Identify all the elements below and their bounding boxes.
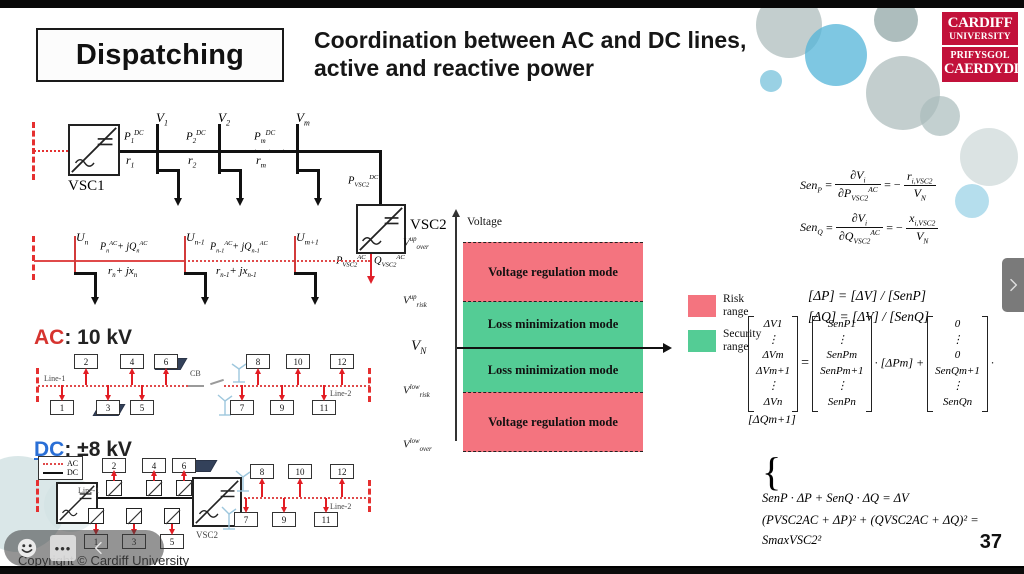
vsc2-label: VSC2 bbox=[410, 217, 447, 234]
dc-feeder-ac-bus-right bbox=[244, 497, 370, 499]
dc-arrow-top-6 bbox=[341, 482, 343, 497]
ac-node-bottom-4[interactable]: 7 bbox=[230, 400, 254, 415]
dc-feeder-vsc2-label: VSC2 bbox=[196, 530, 218, 540]
ac-node-top-3[interactable]: 6 bbox=[154, 354, 178, 369]
chart-band-loss-min-lower: Loss minimization mode bbox=[463, 347, 643, 392]
ac-impedance-label-2: rn-1+ jxn-1 bbox=[216, 265, 257, 279]
matrix-equation: ΔV1 ⋮ ΔVm ΔVm+1 ⋮ ΔVn = SenP1 ⋮ SenPm Se… bbox=[748, 316, 1024, 427]
sens-q-res-den: VN bbox=[906, 229, 938, 245]
dc-arrow-top-4 bbox=[261, 482, 263, 497]
sens-p-equals2: = − bbox=[884, 178, 901, 192]
matrix-senp-row-1: SenP1 bbox=[820, 317, 863, 333]
ac-tap-n-arrow bbox=[91, 297, 99, 305]
chart-band-label-2: Loss minimization mode bbox=[488, 317, 619, 331]
dc-bus-voltage-label-3: Vm bbox=[296, 110, 310, 128]
decor-circle-3 bbox=[874, 8, 918, 42]
ac-arrowhead-bottom-2 bbox=[105, 395, 111, 401]
chart-tick-v-n: VN bbox=[411, 338, 426, 357]
decor-circle-6 bbox=[920, 96, 960, 136]
dc-converter-top-2 bbox=[146, 480, 162, 496]
chart-vn-pointer-line bbox=[457, 347, 665, 349]
chart-band-label-1: Voltage regulation mode bbox=[488, 265, 618, 279]
ac-arrowhead-top-4 bbox=[255, 368, 261, 374]
matrix-sen-q: 0 ⋮ 0 SenQm+1 ⋮ SenQn bbox=[927, 316, 988, 412]
matrix-senp-row-5: ⋮ bbox=[820, 379, 863, 395]
ac-tap-m1-v bbox=[314, 272, 317, 298]
dc-tap-1-v bbox=[177, 169, 180, 199]
chart-band-label-3: Loss minimization mode bbox=[488, 363, 619, 377]
dc-feeder-bus bbox=[98, 497, 192, 499]
dc-arrowhead-top-1 bbox=[111, 470, 117, 476]
dc-feeder-line1-label: Line-1 bbox=[78, 486, 99, 495]
slide-title: Coordination between AC and DC lines, ac… bbox=[314, 26, 814, 82]
sens-q-lhs: SenQ bbox=[800, 220, 823, 234]
decor-circle-8 bbox=[955, 184, 989, 218]
delta-p-equation: [ΔP] = [ΔV] / [SenP] bbox=[808, 286, 929, 307]
sens-q-res-num: xi,VSC2 bbox=[906, 211, 938, 228]
ac-feeder-line1-label: Line-1 bbox=[44, 374, 65, 383]
slide-canvas: Dispatching Coordination between AC and … bbox=[0, 8, 1024, 566]
dc-resistance-label-1: r1 bbox=[126, 153, 134, 169]
chart-voltage-axis bbox=[455, 216, 457, 441]
dc-main-bus bbox=[120, 150, 382, 153]
dc-arrowhead-top-5 bbox=[297, 478, 303, 484]
dc-arrowhead-bottom-4 bbox=[243, 507, 249, 513]
sens-q-derivative: ∂Vi ∂QVSC2AC bbox=[836, 211, 883, 246]
matrix-equals: = bbox=[801, 356, 809, 371]
ac-feeder-diagram: Line-1 Line-2 CB 2 4 bbox=[30, 356, 390, 424]
chevron-left-icon[interactable] bbox=[86, 535, 112, 561]
ac-feeder-segment-3 bbox=[294, 260, 370, 262]
dc-tap-2-arrow bbox=[236, 198, 244, 206]
ac-arrowhead-top-6 bbox=[339, 368, 345, 374]
legend-ac-label: AC bbox=[67, 459, 78, 468]
dc-converter-bottom-3 bbox=[164, 508, 180, 524]
logo-welsh-block: PRIFYSGOL CAERDYDD bbox=[942, 47, 1018, 82]
ac-feeder-line2-label: Line-2 bbox=[330, 389, 351, 398]
slide-title-line1: Coordination between AC and DC lines, bbox=[314, 26, 814, 54]
logo-line-caerdydd: CAERDYDD bbox=[944, 61, 1016, 78]
sens-p-lhs: SenP bbox=[800, 178, 822, 192]
system-equation-line1: SenP · ΔP + SenQ · ΔQ = ΔV bbox=[762, 487, 1024, 510]
dc-arrowhead-top-6 bbox=[339, 478, 345, 484]
ac-arrowhead-bottom-6 bbox=[321, 395, 327, 401]
logo-line-university: UNIVERSITY bbox=[944, 32, 1016, 42]
dc-arrowhead-bottom-6 bbox=[323, 507, 329, 513]
vsc1-glyph bbox=[70, 126, 118, 174]
sens-p-derivative: ∂Vi ∂PVSC2AC bbox=[835, 168, 881, 203]
dc-converter-top-3-glyph bbox=[177, 481, 193, 497]
sens-q-equals: = bbox=[826, 220, 836, 234]
ac-feeder-segment-1 bbox=[34, 260, 184, 262]
chart-tick-v-up-risk: Vuprisk bbox=[403, 294, 427, 309]
dc-node-top-4[interactable]: 8 bbox=[250, 464, 274, 479]
sens-q-result: xi,VSC2 VN bbox=[906, 211, 938, 245]
logo-english-block: CARDIFF UNIVERSITY bbox=[942, 12, 1018, 45]
ac-arrowhead-bottom-1 bbox=[59, 395, 65, 401]
ac-arrowhead-top-1 bbox=[83, 368, 89, 374]
dc-arrowhead-top-4 bbox=[259, 478, 265, 484]
chart-axis-arrowhead bbox=[452, 209, 460, 217]
ellipsis-icon[interactable]: ••• bbox=[50, 535, 76, 561]
matrix-sen-p: SenP1 ⋮ SenPm SenPm+1 ⋮ SenPn bbox=[812, 316, 871, 412]
dc-node-bottom-4[interactable]: 7 bbox=[234, 512, 258, 527]
ac-feeder-cb-label: CB bbox=[190, 369, 201, 378]
voltage-mode-chart: Voltage Voltage regulation mode Loss min… bbox=[455, 216, 705, 441]
chevron-right-icon[interactable] bbox=[1002, 258, 1024, 312]
ac-arrowhead-top-2 bbox=[129, 368, 135, 374]
chart-legend-item-risk: Risk range bbox=[688, 293, 766, 319]
security-range-line2: range bbox=[723, 341, 749, 353]
ac-value: : 10 kV bbox=[64, 326, 132, 349]
ac-node-top-5[interactable]: 10 bbox=[286, 354, 310, 369]
dc-converter-bottom-2-glyph bbox=[127, 509, 143, 525]
ac-tap-m1-h bbox=[294, 272, 316, 275]
top-letterbox bbox=[0, 0, 1024, 8]
ac-feeder-cb-gap-b bbox=[210, 379, 224, 385]
dc-feeder-left-source bbox=[36, 480, 39, 512]
dc-bus-stub-2 bbox=[218, 124, 221, 174]
sens-p-den: ∂PVSC2AC bbox=[835, 185, 881, 202]
dc-node-bottom-6[interactable]: 11 bbox=[314, 512, 338, 527]
ac-flow-label-2: Pn-1AC+ jQn-1AC bbox=[210, 240, 268, 254]
risk-range-swatch bbox=[688, 295, 716, 317]
dc-arrowhead-top-3 bbox=[181, 470, 187, 476]
sens-q-num: ∂Vi bbox=[836, 211, 883, 228]
ac-tap-m1-arrow bbox=[311, 297, 319, 305]
chart-band-label-4: Voltage regulation mode bbox=[488, 415, 618, 429]
ac-tap-n-h bbox=[74, 272, 96, 275]
decor-circle-2 bbox=[805, 24, 867, 86]
dc-feeder-legend: AC DC bbox=[38, 456, 83, 480]
ac-arrowhead-bottom-4 bbox=[239, 395, 245, 401]
dc-feeder-line2-label: Line-2 bbox=[330, 502, 351, 511]
dc-source-link bbox=[34, 150, 68, 152]
sens-q-equation: SenQ = ∂Vi ∂QVSC2AC = − xi,VSC2 VN bbox=[800, 211, 938, 246]
ac-impedance-label-1: rn+ jxn bbox=[108, 265, 137, 279]
chevron-right-glyph bbox=[1005, 277, 1021, 293]
ac-tap-n-v bbox=[94, 272, 97, 298]
dc-tap-3-arrow bbox=[314, 198, 322, 206]
risk-range-line1: Risk bbox=[723, 293, 744, 305]
slide-section-label: Dispatching bbox=[76, 39, 244, 72]
dc-tap-2-v bbox=[239, 169, 242, 199]
chart-vn-pointer-arrowhead bbox=[663, 343, 672, 353]
dc-arrowhead-top-2 bbox=[151, 470, 157, 476]
matrix-lhs: ΔV1 ⋮ ΔVm ΔVm+1 ⋮ ΔVn bbox=[748, 316, 798, 412]
cardiff-university-logo: CARDIFF UNIVERSITY PRIFYSGOL CAERDYDD bbox=[942, 12, 1018, 82]
sensitivity-equations: SenP = ∂Vi ∂PVSC2AC = − ri,VSC2 VN SenQ … bbox=[800, 168, 938, 246]
dc-converter-bottom-2 bbox=[126, 508, 142, 524]
legend-row-dc: DC bbox=[43, 468, 78, 477]
ac-source-dashed-bar bbox=[32, 236, 35, 280]
sens-p-res-num: ri,VSC2 bbox=[904, 169, 936, 186]
smiley-icon[interactable] bbox=[14, 535, 40, 561]
ac-feeder-bus-right bbox=[224, 385, 370, 387]
vsc2-dc-power-label: PVSC2DC bbox=[348, 174, 378, 189]
ac-bus-voltage-label-n1: Un-1 bbox=[186, 230, 205, 246]
ac-feeder-cb-gap-a bbox=[188, 385, 204, 387]
chart-axis-title: Voltage bbox=[467, 216, 502, 228]
matrix-senp-row-4: SenPm+1 bbox=[820, 364, 863, 380]
dc-ellipsis-dots: . . . bbox=[254, 140, 289, 155]
matrix-senq-row-4: SenQm+1 bbox=[935, 364, 980, 380]
vsc1-label: VSC1 bbox=[68, 178, 105, 195]
ac-arrowhead-top-3 bbox=[163, 368, 169, 374]
page-number: 37 bbox=[980, 531, 1002, 554]
chevron-left-glyph bbox=[91, 540, 107, 556]
ac-node-top-6[interactable]: 12 bbox=[330, 354, 354, 369]
chart-band-voltage-regulation-lower: Voltage regulation mode bbox=[463, 392, 643, 452]
dc-converter-top-1-glyph bbox=[107, 481, 123, 497]
ac-tap-n1-v bbox=[204, 272, 207, 298]
matrix-mult-p: · [ΔPm] + bbox=[875, 356, 924, 370]
dc-converter-top-3 bbox=[176, 480, 192, 496]
slide-title-line2: active and reactive power bbox=[314, 54, 814, 82]
matrix-lhs-row-3: ΔVm bbox=[756, 348, 790, 364]
dc-tap-3-v bbox=[317, 169, 320, 199]
dc-bus-stub-3 bbox=[296, 124, 299, 174]
ac-arrowhead-bottom-3 bbox=[139, 395, 145, 401]
ac-node-bottom-1[interactable]: 1 bbox=[50, 400, 74, 415]
ac-node-bottom-6[interactable]: 11 bbox=[312, 400, 336, 415]
legend-dc-label: DC bbox=[67, 468, 78, 477]
chart-tick-v-low-risk: Vlowrisk bbox=[403, 384, 430, 399]
ac-node-top-2[interactable]: 4 bbox=[120, 354, 144, 369]
dc-network-schematic: VSC1 V1 V2 Vm P1DC P2DC bbox=[26, 112, 426, 230]
dc-arrow-top-5 bbox=[299, 482, 301, 497]
ac-voltage-level-label: AC: 10 kV bbox=[34, 326, 132, 350]
legend-row-ac: AC bbox=[43, 459, 78, 468]
dc-arrowhead-bottom-3 bbox=[169, 529, 175, 535]
dc-converter-top-2-glyph bbox=[147, 481, 163, 497]
dc-riser-to-vsc2 bbox=[379, 150, 382, 206]
ac-bus-voltage-label-m1: Um+1 bbox=[296, 230, 319, 246]
dc-arrowhead-bottom-5 bbox=[281, 507, 287, 513]
matrix-lhs-row-1: ΔV1 bbox=[756, 317, 790, 333]
dc-node-top-6[interactable]: 12 bbox=[330, 464, 354, 479]
matrix-senq-row-1: 0 bbox=[935, 317, 980, 333]
dc-node-top-5[interactable]: 10 bbox=[288, 464, 312, 479]
dc-bus-stub-1 bbox=[156, 124, 159, 174]
matrix-senp-row-3: SenPm bbox=[820, 348, 863, 364]
sens-p-result: ri,VSC2 VN bbox=[904, 169, 936, 203]
dc-converter-bottom-1-glyph bbox=[89, 509, 105, 525]
presentation-viewer: Dispatching Coordination between AC and … bbox=[0, 0, 1024, 574]
matrix-senq-row-6: SenQn bbox=[935, 395, 980, 411]
dc-tap-1-arrow bbox=[174, 198, 182, 206]
matrix-lhs-row-4: ΔVm+1 bbox=[756, 364, 790, 380]
matrix-lhs-row-5: ⋮ bbox=[756, 379, 790, 395]
logo-line-cardiff: CARDIFF bbox=[944, 15, 1016, 32]
dc-power-label-1: P1DC bbox=[124, 130, 144, 145]
ac-bus-voltage-label-n: Un bbox=[76, 230, 88, 246]
sens-p-res-den: VN bbox=[904, 186, 936, 202]
matrix-senq-row-5: ⋮ bbox=[935, 379, 980, 395]
dc-resistance-label-2: r2 bbox=[188, 153, 196, 169]
dc-bus-voltage-label-2: V2 bbox=[218, 110, 230, 128]
matrix-senq-row-2: ⋮ bbox=[935, 333, 980, 349]
legend-dc-line-icon bbox=[43, 472, 63, 474]
dc-feeder-right-source bbox=[368, 480, 371, 512]
security-range-swatch bbox=[688, 330, 716, 352]
dc-node-bottom-5[interactable]: 9 bbox=[272, 512, 296, 527]
chart-band-voltage-regulation-upper: Voltage regulation mode bbox=[463, 242, 643, 302]
smiley-glyph bbox=[16, 537, 38, 559]
vsc1-converter-symbol bbox=[68, 124, 120, 176]
ac-node-top-4[interactable]: 8 bbox=[246, 354, 270, 369]
ac-tag: AC bbox=[34, 326, 64, 349]
dc-converter-bottom-3-glyph bbox=[165, 509, 181, 525]
ac-feeder-segment-2 bbox=[184, 260, 294, 262]
bottom-letterbox bbox=[0, 568, 1024, 574]
legend-ac-dash-icon bbox=[43, 463, 63, 465]
sens-p-equation: SenP = ∂Vi ∂PVSC2AC = − ri,VSC2 VN bbox=[800, 168, 938, 203]
chart-tick-v-up-over: Vupover bbox=[403, 236, 429, 251]
slide-section-chip: Dispatching bbox=[36, 28, 284, 82]
ac-tap-n1-h bbox=[184, 272, 206, 275]
decor-circle-7 bbox=[960, 128, 1018, 186]
ac-network-schematic: Un Un-1 Um+1 PnAC+ jQnAC Pn-1AC+ jQn-1AC… bbox=[26, 234, 426, 334]
logo-line-prifysgol: PRIFYSGOL bbox=[944, 50, 1016, 61]
chart-band-loss-min-upper: Loss minimization mode bbox=[463, 302, 643, 347]
matrix-senp-row-2: ⋮ bbox=[820, 333, 863, 349]
matrix-senp-row-6: SenPn bbox=[820, 395, 863, 411]
matrix-lhs-row-2: ⋮ bbox=[756, 333, 790, 349]
risk-range-text: Risk range bbox=[723, 293, 749, 319]
sens-q-equals2: = − bbox=[886, 220, 903, 234]
system-brace: { bbox=[762, 456, 781, 487]
dc-resistance-label-3: rm bbox=[256, 153, 266, 169]
chart-tick-v-low-over: Vlowover bbox=[403, 438, 432, 453]
ac-flow-label-1: PnAC+ jQnAC bbox=[100, 240, 147, 254]
sens-p-num: ∂Vi bbox=[835, 168, 881, 185]
ac-tap-n1-arrow bbox=[201, 297, 209, 305]
ac-node-bottom-2[interactable]: 3 bbox=[96, 400, 120, 415]
ac-arrowhead-top-5 bbox=[295, 368, 301, 374]
dc-power-label-2: P2DC bbox=[186, 130, 206, 145]
ac-arrowhead-bottom-5 bbox=[279, 395, 285, 401]
ac-node-top-1[interactable]: 2 bbox=[74, 354, 98, 369]
ac-node-bottom-3[interactable]: 5 bbox=[130, 400, 154, 415]
sens-q-den: ∂QVSC2AC bbox=[836, 228, 883, 245]
dc-converter-bottom-1 bbox=[88, 508, 104, 524]
dc-bus-voltage-label-1: V1 bbox=[156, 110, 168, 128]
dc-converter-top-1 bbox=[106, 480, 122, 496]
presenter-control-bar: ••• bbox=[4, 530, 164, 566]
risk-range-line2: range bbox=[723, 306, 749, 318]
matrix-senq-row-3: 0 bbox=[935, 348, 980, 364]
matrix-lhs-row-6: ΔVn bbox=[756, 395, 790, 411]
sens-p-equals: = bbox=[825, 178, 835, 192]
ac-node-bottom-5[interactable]: 9 bbox=[270, 400, 294, 415]
